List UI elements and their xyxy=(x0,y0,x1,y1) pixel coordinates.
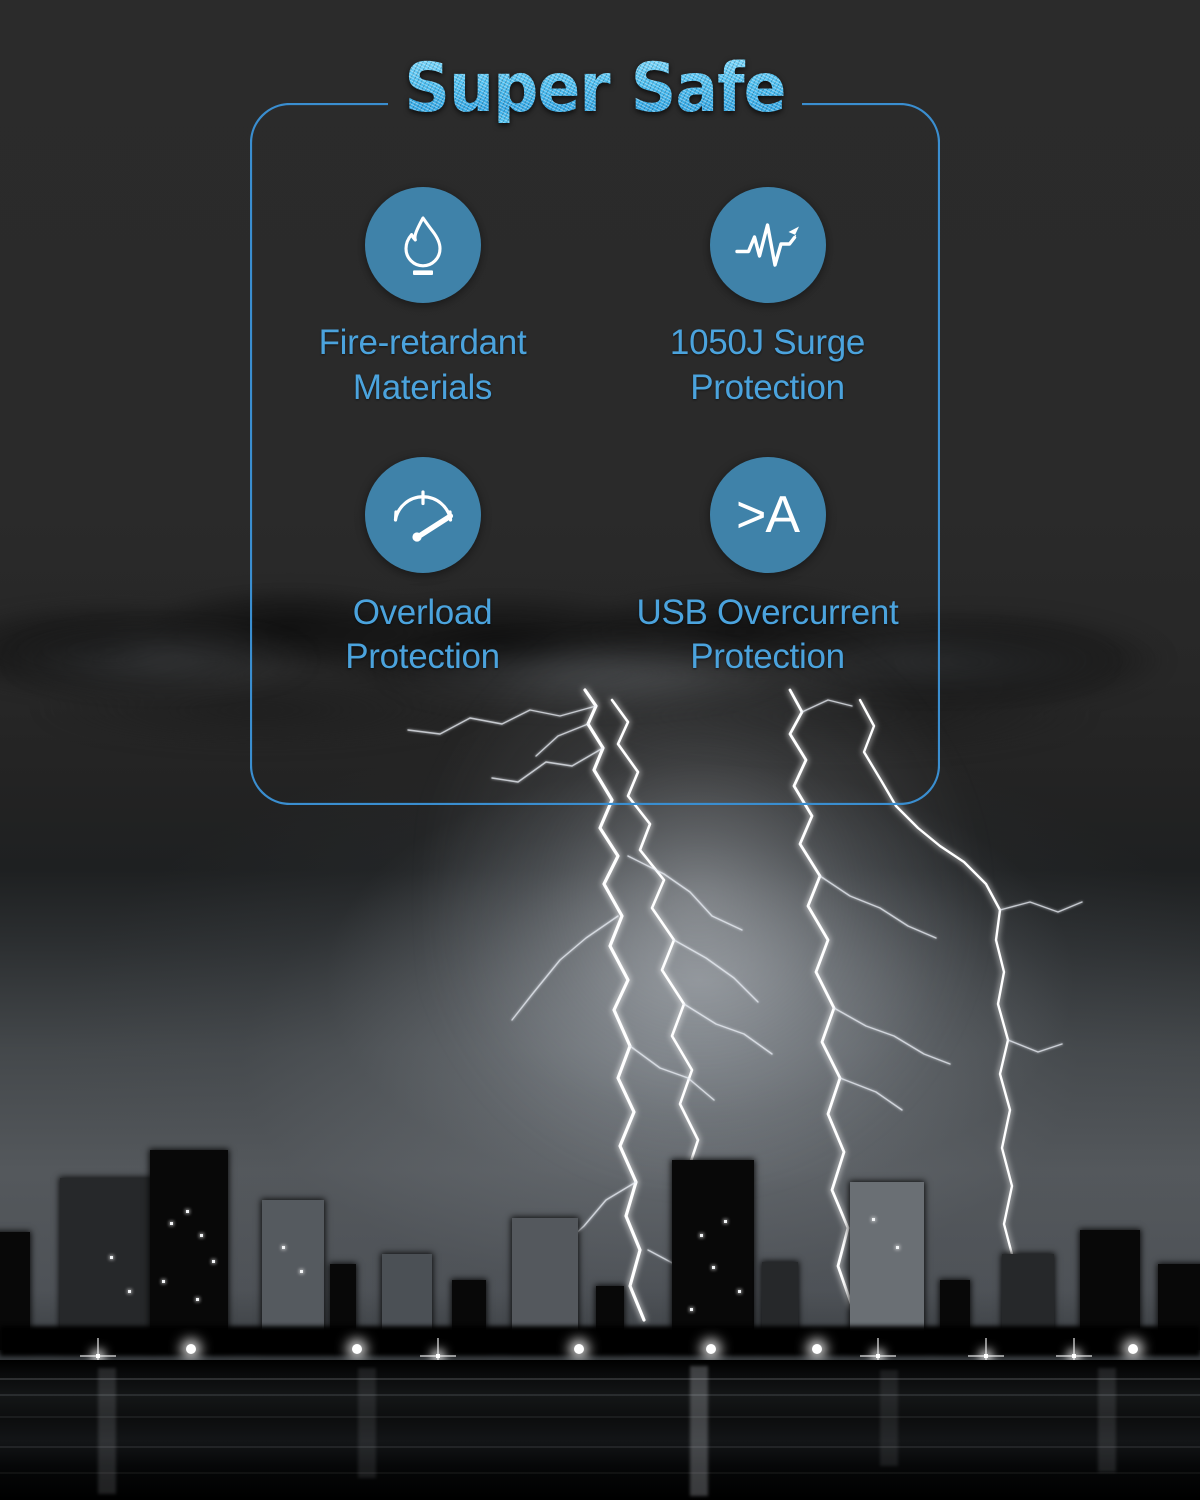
feature-icon-badge xyxy=(710,187,826,303)
building xyxy=(850,1182,924,1350)
feature-icon-badge: >A xyxy=(710,457,826,573)
flame-icon xyxy=(393,212,453,278)
building xyxy=(60,1178,156,1350)
street-light xyxy=(1072,1354,1076,1358)
feature-item-overload-protection: Overload Protection xyxy=(250,457,595,681)
page-title: Super Safe xyxy=(274,55,916,123)
street-light xyxy=(436,1354,440,1358)
feature-icon-badge xyxy=(365,187,481,303)
water-reflection xyxy=(0,1360,1200,1500)
building xyxy=(672,1160,754,1350)
street-light xyxy=(876,1354,880,1358)
super-safe-banner: Super Safe Fire-retardant Materials xyxy=(0,0,1200,1500)
feature-label: USB Overcurrent Protection xyxy=(637,591,899,681)
street-light xyxy=(96,1354,100,1358)
feature-label: 1050J Surge Protection xyxy=(670,321,865,411)
feature-item-fire-retardant: Fire-retardant Materials xyxy=(250,187,595,411)
feature-item-surge-protection: 1050J Surge Protection xyxy=(595,187,940,411)
feature-label: Fire-retardant Materials xyxy=(319,321,527,411)
feature-label: Overload Protection xyxy=(345,591,500,681)
building xyxy=(150,1150,228,1350)
street-light xyxy=(984,1354,988,1358)
feature-grid: Fire-retardant Materials 1050J Surge Pro… xyxy=(250,187,940,680)
greater-than-amp-icon: >A xyxy=(736,489,799,541)
feature-item-usb-overcurrent: >A USB Overcurrent Protection xyxy=(595,457,940,681)
treeline xyxy=(0,1326,1200,1356)
feature-icon-badge xyxy=(365,457,481,573)
gauge-icon xyxy=(388,486,458,544)
feature-card: Super Safe Fire-retardant Materials xyxy=(250,103,940,805)
surge-waveform-arrow-icon xyxy=(734,217,802,273)
